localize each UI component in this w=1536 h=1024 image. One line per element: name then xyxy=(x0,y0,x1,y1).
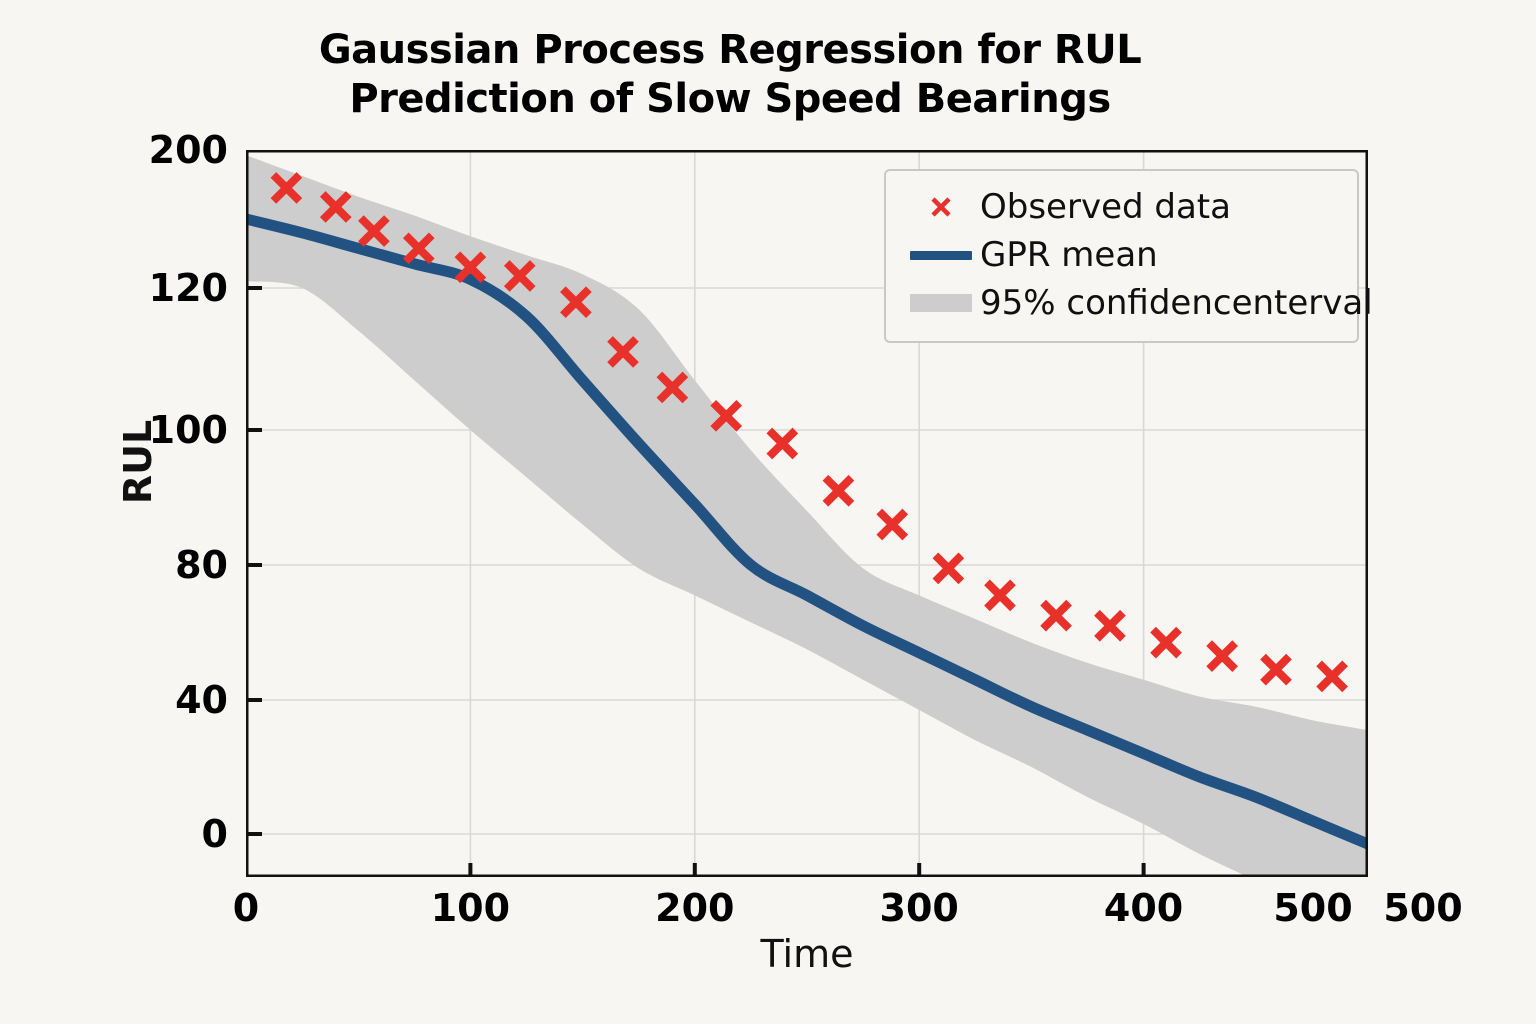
legend-item-gpr-mean[interactable]: GPR mean xyxy=(902,231,1341,279)
chart-legend: Observed data GPR mean 95% confidencente… xyxy=(884,169,1359,343)
x-marker-icon xyxy=(902,192,980,222)
line-swatch-icon xyxy=(902,251,980,260)
y-tick-label: 200 xyxy=(118,128,228,172)
legend-item-confidence-interval[interactable]: 95% confidencenterval xyxy=(902,279,1341,327)
x-tick-label: 300 xyxy=(849,886,989,930)
legend-label-gpr-mean: GPR mean xyxy=(980,235,1158,275)
y-tick-label: 0 xyxy=(118,812,228,856)
y-tick-label: 40 xyxy=(118,678,228,722)
x-axis-tick-labels: 0100200300400500500 xyxy=(0,886,1536,946)
y-tick-label: 100 xyxy=(118,408,228,452)
x-tick-label: 500 xyxy=(1353,886,1493,930)
y-tick-label: 120 xyxy=(118,266,228,310)
chart-canvas: Gaussian Process Regression for RUL Pred… xyxy=(0,0,1536,1024)
y-axis-tick-labels: 04080100120200 xyxy=(118,0,228,1024)
x-tick-label: 100 xyxy=(400,886,540,930)
x-tick-label: 200 xyxy=(625,886,765,930)
y-tick-label: 80 xyxy=(118,543,228,587)
x-tick-label: 400 xyxy=(1074,886,1214,930)
band-swatch-icon xyxy=(902,294,980,312)
x-tick-label: 0 xyxy=(176,886,316,930)
legend-label-observed-data: Observed data xyxy=(980,187,1231,227)
legend-item-observed-data[interactable]: Observed data xyxy=(902,183,1341,231)
legend-label-confidence-interval: 95% confidencenterval xyxy=(980,283,1373,323)
